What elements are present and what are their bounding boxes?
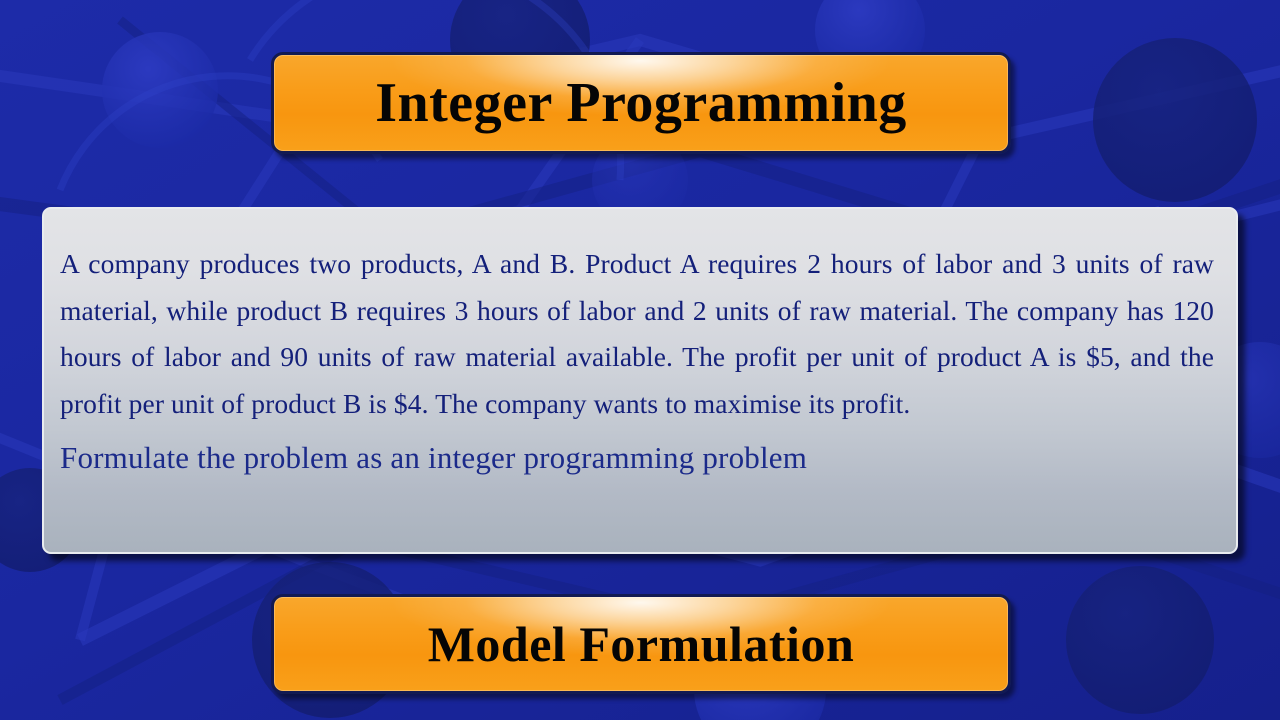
problem-body-text: A company produces two products, A and B… [60, 241, 1214, 427]
problem-prompt-text: Formulate the problem as an integer prog… [60, 437, 1214, 479]
presentation-slide: Integer Programming A company produces t… [0, 0, 1280, 720]
slide-footer-text: Model Formulation [428, 619, 855, 669]
slide-title-banner: Integer Programming [271, 52, 1011, 154]
slide-footer-banner: Model Formulation [271, 594, 1011, 694]
problem-statement-panel: A company produces two products, A and B… [42, 207, 1238, 554]
slide-title-text: Integer Programming [375, 75, 907, 131]
